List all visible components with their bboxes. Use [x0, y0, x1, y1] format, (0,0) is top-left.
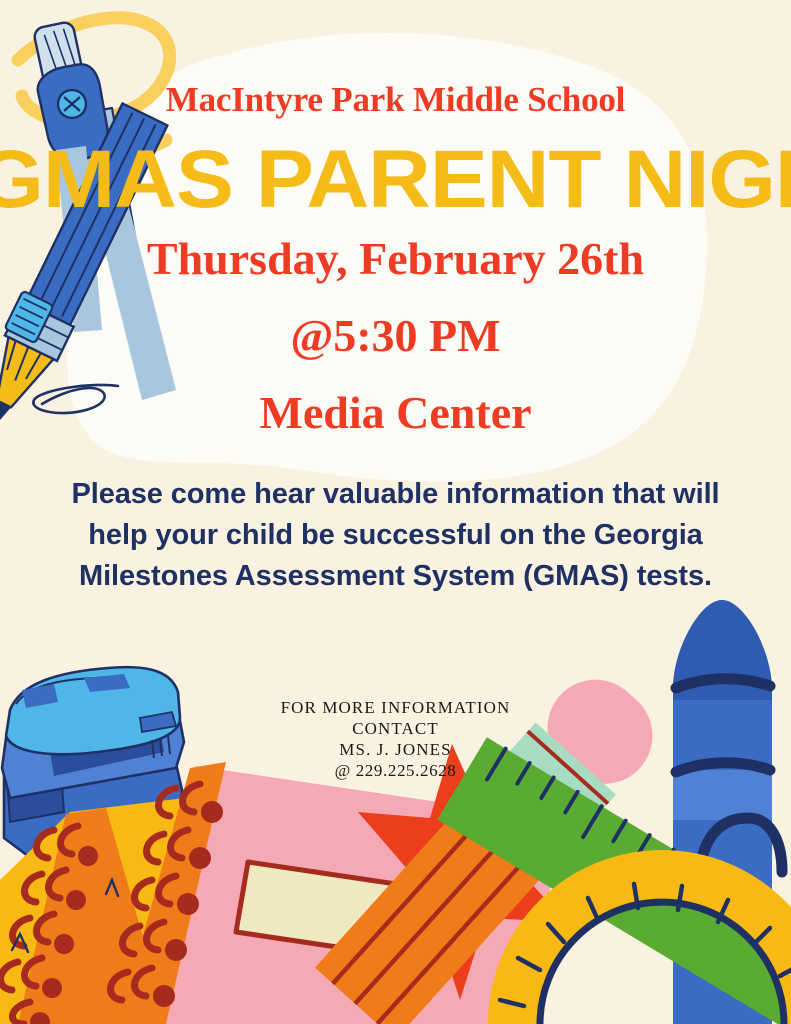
event-date: Thursday, February 26th — [0, 232, 791, 285]
event-location: Media Center — [0, 386, 791, 439]
school-name: MacIntyre Park Middle School — [0, 80, 791, 120]
contact-line-2: CONTACT — [0, 718, 791, 739]
contact-name: MS. J. JONES — [0, 739, 791, 760]
contact-block: FOR MORE INFORMATION CONTACT MS. J. JONE… — [0, 697, 791, 781]
contact-line-1: FOR MORE INFORMATION — [0, 697, 791, 718]
page-title: GMAS PARENT NIGHT — [0, 139, 791, 221]
contact-phone: @ 229.225.2628 — [0, 760, 791, 781]
flyer-canvas: MacIntyre Park Middle School GMAS PARENT… — [0, 0, 791, 1024]
event-time: @5:30 PM — [0, 309, 791, 362]
description-text: Please come hear valuable information th… — [55, 474, 736, 597]
